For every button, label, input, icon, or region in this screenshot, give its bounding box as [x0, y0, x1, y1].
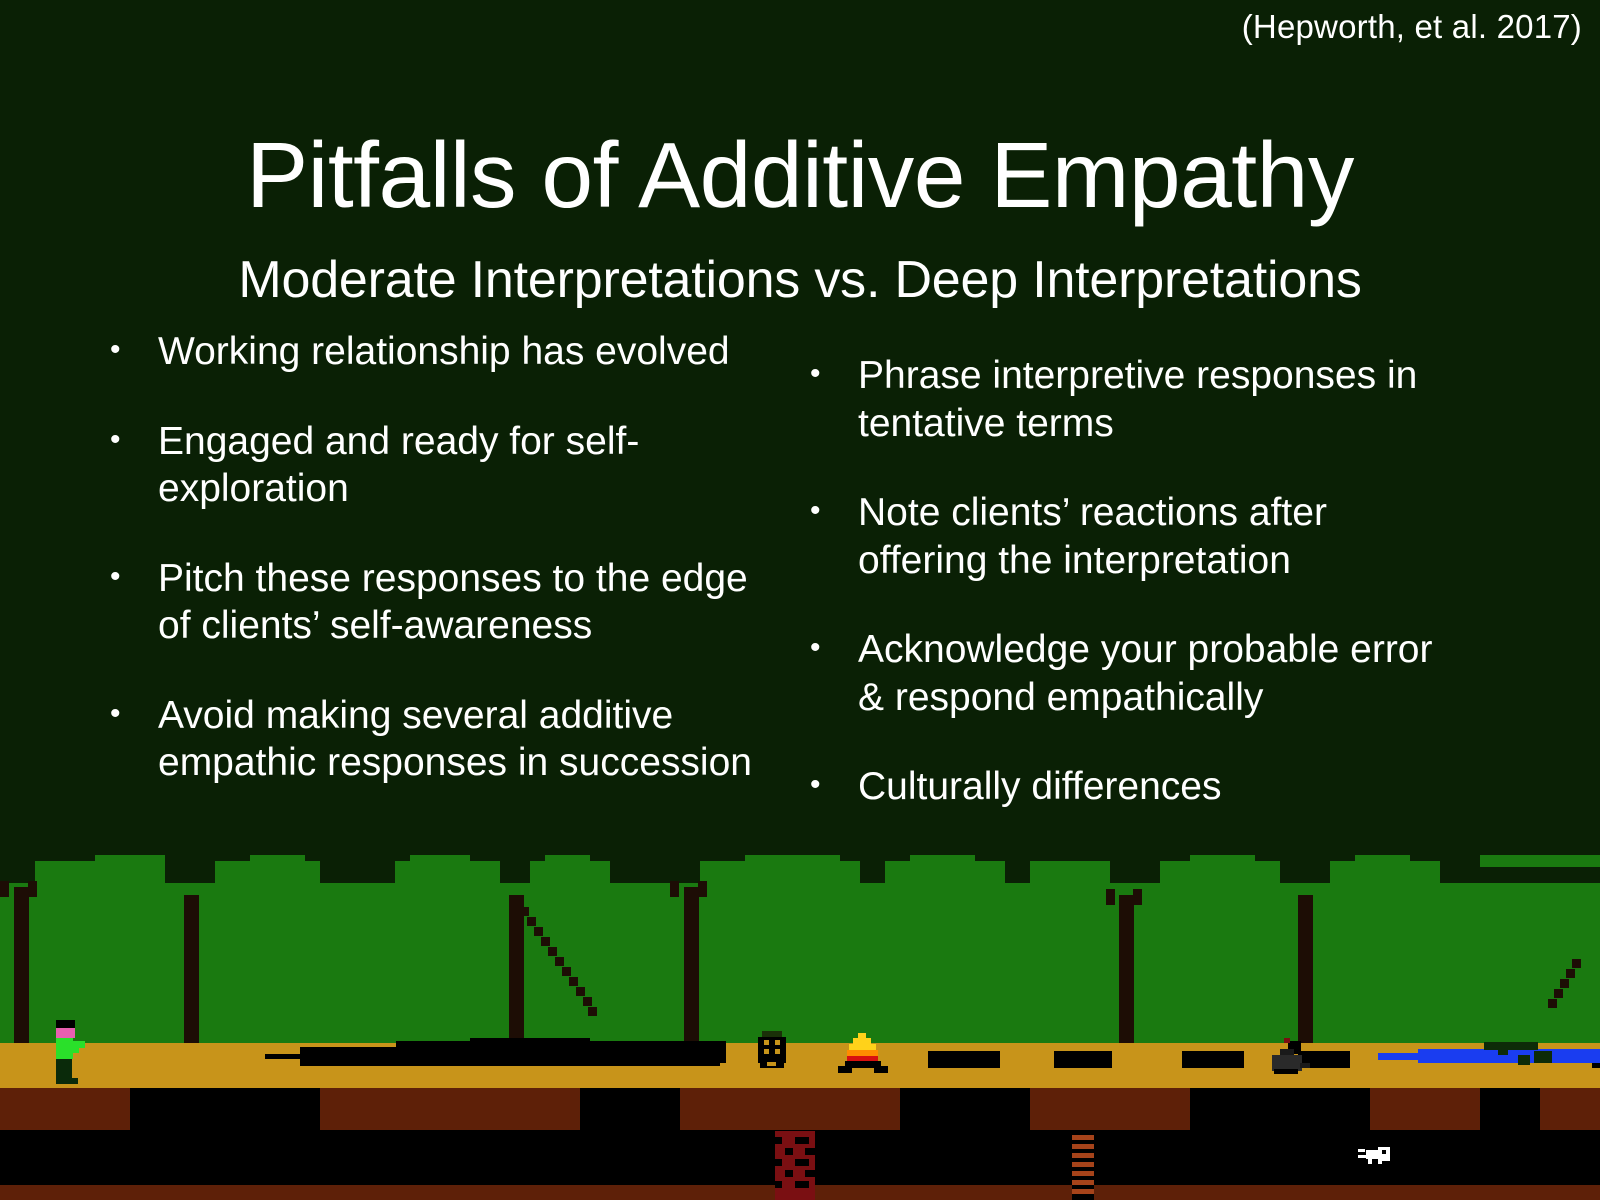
brick-mortar-gap: [795, 1159, 809, 1166]
fallen-branch-segment: [527, 917, 536, 926]
critter-body: [1366, 1150, 1382, 1159]
critter-eye: [1382, 1150, 1386, 1154]
canopy-bump: [745, 855, 840, 867]
cave-pit: [1480, 1088, 1540, 1130]
citation: (Hepworth, et al. 2017): [1242, 8, 1582, 46]
list-item: • Culturally differences: [810, 763, 1460, 811]
bullet-marker-icon: •: [810, 352, 858, 396]
tree-trunk-fork: [1133, 889, 1142, 905]
bullet-column-left: • Working relationship has evolved • Eng…: [110, 328, 760, 829]
fallen-branch-segment: [1548, 999, 1557, 1008]
ladder-rung: [1072, 1144, 1094, 1149]
tree-trunk: [1119, 895, 1134, 1045]
fallen-branch-segment: [569, 977, 578, 986]
crate-stud: [764, 1049, 769, 1054]
cave-pit: [130, 1088, 320, 1130]
rifle-grip: [1534, 1051, 1552, 1063]
tree-trunk: [1298, 895, 1313, 1045]
hero-hand: [73, 1048, 79, 1053]
brick-mortar-gap: [785, 1148, 793, 1155]
canopy-bump: [250, 855, 305, 871]
critter-leg: [1368, 1159, 1372, 1164]
fallen-branch-segment: [583, 997, 592, 1006]
bullet-marker-icon: •: [110, 418, 158, 462]
fallen-branch-segment: [562, 967, 571, 976]
rifle-scope-mount: [1498, 1048, 1508, 1055]
canopy-bump: [1355, 855, 1410, 871]
ground-hole: [928, 1051, 1000, 1068]
list-item-label: Phrase interpretive responses in tentati…: [858, 352, 1460, 447]
cave-pit: [900, 1088, 1030, 1130]
ground-hole: [1182, 1051, 1244, 1068]
canopy-bump: [545, 855, 590, 871]
fallen-branch-segment: [555, 957, 564, 966]
canopy-bump: [910, 855, 975, 871]
bullet-marker-icon: •: [810, 626, 858, 670]
list-item: • Avoid making several additive empathic…: [110, 692, 760, 787]
list-item: • Pitch these responses to the edge of c…: [110, 555, 760, 650]
tree-trunk-fork: [0, 881, 9, 897]
critter-leg: [1378, 1159, 1382, 1164]
brick-mortar-gap: [775, 1181, 782, 1188]
list-item-label: Pitch these responses to the edge of cli…: [158, 555, 760, 650]
brick-mortar-gap: [795, 1181, 809, 1188]
canopy-bump: [95, 855, 165, 871]
fallen-branch-segment: [541, 937, 550, 946]
fallen-log-piece: [470, 1038, 590, 1052]
fallen-branch-segment: [548, 947, 557, 956]
crate-stud: [775, 1049, 780, 1054]
cave-pit: [1190, 1088, 1370, 1130]
bullet-marker-icon: •: [110, 328, 158, 372]
critter-tail: [1358, 1149, 1365, 1152]
fallen-branch-segment: [1566, 969, 1575, 978]
brick-mortar-gap: [775, 1159, 782, 1166]
ladder-rung: [1072, 1153, 1094, 1158]
brick-mortar-gap: [805, 1170, 815, 1177]
tree-trunk-fork: [670, 881, 679, 897]
fallen-branch-segment: [1560, 979, 1569, 988]
list-item-label: Working relationship has evolved: [158, 328, 760, 376]
bullet-marker-icon: •: [810, 763, 858, 807]
canopy-bump: [1500, 855, 1600, 857]
canopy-bump: [1190, 855, 1255, 871]
brick-mortar-gap: [805, 1148, 815, 1155]
crate-base-slot: [767, 1062, 776, 1066]
fire-log-right: [874, 1066, 888, 1073]
page-title: Pitfalls of Additive Empathy: [0, 128, 1600, 223]
tree-canopy: [0, 883, 1600, 1043]
list-item: • Note clients’ reactions after offering…: [810, 489, 1460, 584]
list-item: • Working relationship has evolved: [110, 328, 760, 376]
list-item-label: Note clients’ reactions after offering t…: [858, 489, 1460, 584]
page-subtitle: Moderate Interpretations vs. Deep Interp…: [0, 250, 1600, 310]
fallen-branch-segment: [520, 907, 529, 916]
brick-mortar-gap: [795, 1137, 809, 1144]
rifle-trigger: [1518, 1055, 1530, 1065]
bullet-marker-icon: •: [110, 692, 158, 736]
canopy-bump: [410, 855, 470, 871]
rifle-scope: [1484, 1042, 1538, 1050]
tree-trunk: [684, 887, 699, 1045]
ladder-rung: [1072, 1189, 1094, 1194]
pixel-game-scene: [0, 855, 1600, 1200]
list-item-label: Engaged and ready for self-exploration: [158, 418, 760, 513]
list-item: • Engaged and ready for self-exploration: [110, 418, 760, 513]
hero-hair: [56, 1020, 75, 1028]
list-item-label: Avoid making several additive empathic r…: [158, 692, 760, 787]
tree-trunk-fork: [1106, 889, 1115, 905]
tree-trunk: [184, 895, 199, 1045]
tree-trunk-fork: [28, 881, 37, 897]
list-item-label: Culturally differences: [858, 763, 1460, 811]
crate-stud: [764, 1040, 769, 1045]
bullet-marker-icon: •: [110, 555, 158, 599]
fallen-branch-segment: [1554, 989, 1563, 998]
list-item-label: Acknowledge your probable error & respon…: [858, 626, 1460, 721]
brick-mortar-gap: [785, 1170, 793, 1177]
fallen-branch-segment: [576, 987, 585, 996]
brick-mortar-gap: [775, 1137, 782, 1144]
canopy-bump: [1030, 861, 1110, 883]
hero-torso: [56, 1038, 73, 1059]
beast-leg: [1274, 1069, 1298, 1074]
tree-trunk: [509, 895, 524, 1045]
tree-trunk: [14, 887, 29, 1045]
fallen-branch-segment: [534, 927, 543, 936]
fallen-branch-segment: [588, 1007, 597, 1016]
tree-trunk-fork: [698, 881, 707, 897]
fallen-branch-segment: [1572, 959, 1581, 968]
ground-hole: [1054, 1051, 1112, 1068]
beast-tail: [1300, 1063, 1310, 1068]
cave-ladder[interactable]: [1072, 1133, 1094, 1200]
hero-face: [56, 1028, 75, 1038]
cave-pit: [580, 1088, 680, 1130]
beast-ear: [1284, 1038, 1290, 1043]
critter-tail: [1358, 1155, 1367, 1158]
crate-stud: [775, 1040, 780, 1045]
bullet-marker-icon: •: [810, 489, 858, 533]
ground-surface: [0, 1043, 1600, 1088]
ladder-rung: [1072, 1180, 1094, 1185]
ladder-rung: [1072, 1135, 1094, 1140]
hero-arm: [73, 1041, 85, 1048]
hero-foot: [56, 1078, 78, 1084]
fire-log-left: [838, 1066, 852, 1073]
slide-canvas: (Hepworth, et al. 2017) Pitfalls of Addi…: [0, 0, 1600, 1200]
ladder-rung: [1072, 1162, 1094, 1167]
list-item: • Phrase interpretive responses in tenta…: [810, 352, 1460, 447]
ladder-rung: [1072, 1171, 1094, 1176]
list-item: • Acknowledge your probable error & resp…: [810, 626, 1460, 721]
bullet-column-right: • Phrase interpretive responses in tenta…: [810, 352, 1460, 853]
